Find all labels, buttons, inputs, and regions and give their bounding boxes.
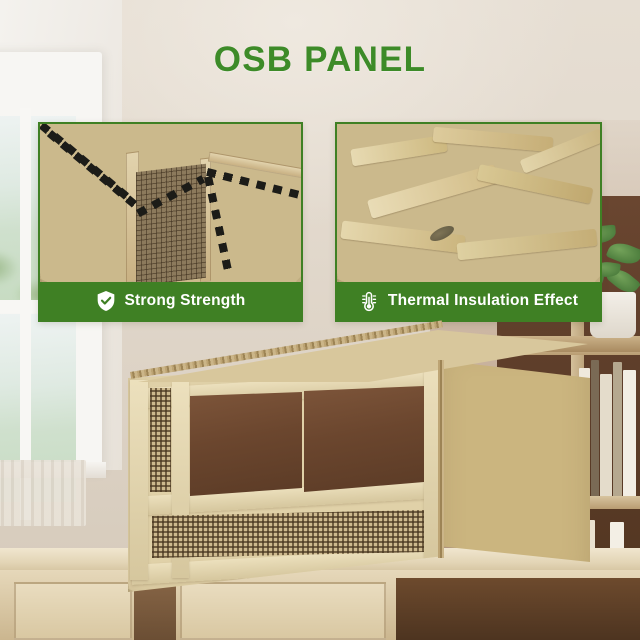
window-mullion [20,108,31,520]
book [623,370,636,496]
shield-check-icon [96,290,116,312]
grille-side [150,388,171,492]
book [591,360,599,496]
feature-card-strong-strength[interactable]: Strong Strength [38,122,303,322]
radiator [0,460,86,526]
feature-card-thermal-insulation[interactable]: Thermal Insulation Effect [335,122,602,322]
thermometer-icon [359,290,379,312]
osb-strand [477,164,594,204]
frame-stile-left [130,380,148,580]
product-side-face [438,348,590,584]
osb-corner-image [40,124,301,282]
feature-label-bar: Thermal Insulation Effect [337,282,600,320]
osb-strand [433,127,554,152]
product-banner: OSB PANEL Strong Strength [0,0,640,640]
product-front-face: Panhon [128,360,444,592]
feature-label: Strong Strength [125,292,246,310]
interior-panel-right [304,386,424,492]
osb-macro-image [337,124,600,282]
grille-bottom [152,510,424,558]
product-corner-edge [438,360,444,558]
feature-label-bar: Strong Strength [40,282,301,320]
interior-panel-left [190,392,302,496]
product-osb-cabinet[interactable]: Panhon [108,330,588,598]
book [600,374,612,496]
osb-strand [456,229,597,261]
feature-photo-osb-corner [40,124,301,282]
page-title: OSB PANEL [0,40,640,80]
feature-label: Thermal Insulation Effect [388,292,578,310]
book [613,362,622,496]
feature-photo-osb-macro [337,124,600,282]
